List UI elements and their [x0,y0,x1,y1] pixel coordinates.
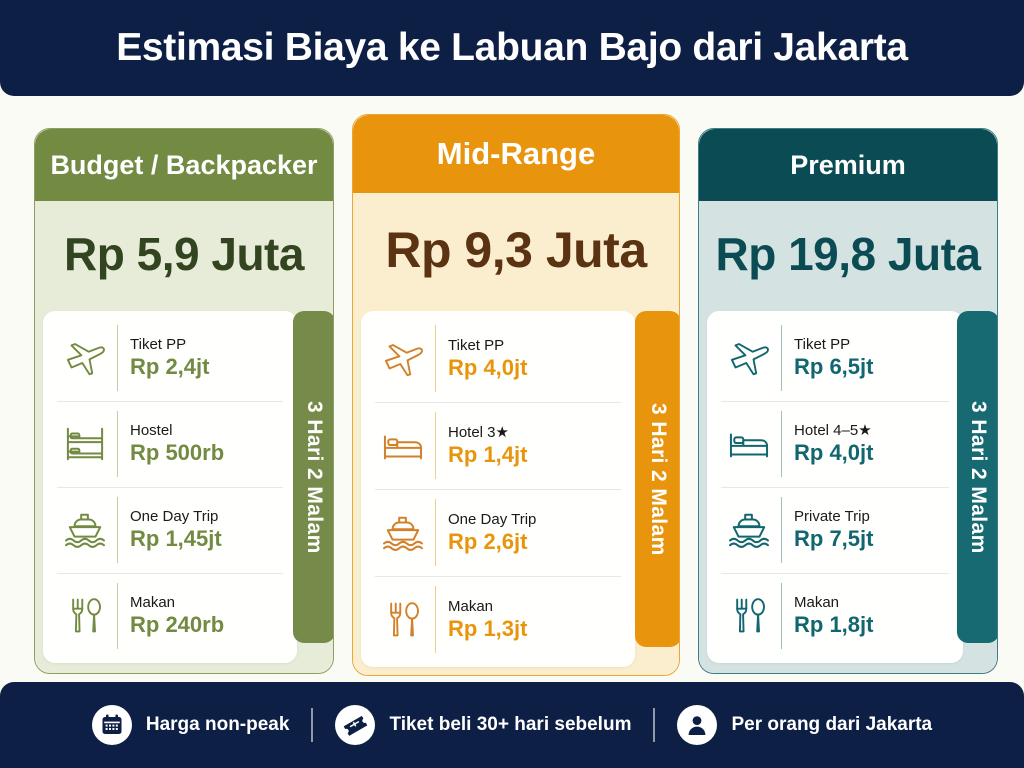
infographic-page: Estimasi Biaya ke Labuan Bajo dari Jakar… [0,0,1024,768]
cost-row[interactable]: Tiket PP Rp 6,5jt [707,315,963,401]
cost-breakdown-panel-premium: Tiket PP Rp 6,5jt [707,311,963,663]
cost-label: Hotel 3★ [448,424,527,441]
cost-breakdown-panel-mid-range: Tiket PP Rp 4,0jt [361,311,635,667]
tier-total-price: Rp 9,3 Juta [385,221,646,279]
footer-note-label: Harga non-peak [146,714,290,736]
row-divider [117,411,118,477]
fork-spoon-icon [375,600,431,640]
footer-note-label: Per orang dari Jakarta [731,714,932,736]
row-divider [435,499,436,566]
cost-label: Hostel [130,422,224,439]
duration-badge-label: 3 Hari 2 Malam [646,403,670,556]
cost-row[interactable]: Private Trip Rp 7,5jt [707,487,963,573]
cost-row[interactable]: One Day Trip Rp 1,45jt [43,487,297,573]
duration-badge-label: 3 Hari 2 Malam [302,401,326,554]
row-divider [435,412,436,479]
footer-bar: Harga non-peak Tiket beli 30+ hari sebel… [0,682,1024,768]
airplane-icon [721,340,777,376]
tier-total-price: Rp 19,8 Juta [716,227,981,281]
row-divider [781,411,782,477]
cost-row[interactable]: Tiket PP Rp 2,4jt [43,315,297,401]
cost-value: Rp 6,5jt [794,354,873,379]
tier-card-header-premium: Premium [699,129,997,201]
tier-price-band-mid-range: Rp 9,3 Juta [353,193,679,307]
tier-card-budget[interactable]: Budget / Backpacker Rp 5,9 Juta [34,128,334,674]
row-divider [117,325,118,391]
cost-value: Rp 500rb [130,440,224,465]
cost-label: Hotel 4–5★ [794,422,873,439]
row-divider [781,497,782,563]
cost-row[interactable]: Hostel Rp 500rb [43,401,297,487]
cost-value: Rp 2,6jt [448,529,536,554]
duration-badge-mid-range: 3 Hari 2 Malam [635,311,679,647]
cost-label: Makan [448,598,527,615]
cost-label: Makan [794,594,873,611]
cost-label: Private Trip [794,508,873,525]
cost-row[interactable]: Makan Rp 1,8jt [707,573,963,659]
cost-value: Rp 1,45jt [130,526,222,551]
cost-value: Rp 240rb [130,612,224,637]
tier-cards-container: Budget / Backpacker Rp 5,9 Juta [0,96,1024,682]
cost-label: Tiket PP [794,336,873,353]
person-icon [677,705,717,745]
row-divider [117,497,118,563]
cost-label: Makan [130,594,224,611]
cost-value: Rp 7,5jt [794,526,873,551]
fork-spoon-icon [57,596,113,636]
row-divider [435,586,436,653]
ticket-icon [335,705,375,745]
boat-icon [721,511,777,549]
cost-label: One Day Trip [448,511,536,528]
tier-card-premium[interactable]: Premium Rp 19,8 Juta Tiket PP [698,128,998,674]
cost-breakdown-panel-budget: Tiket PP Rp 2,4jt [43,311,297,663]
duration-badge-budget: 3 Hari 2 Malam [293,311,333,643]
bunk-bed-icon [57,425,113,463]
cost-row[interactable]: Hotel 4–5★ Rp 4,0jt [707,401,963,487]
footer-note-harga-non-peak: Harga non-peak [70,705,312,745]
cost-row[interactable]: Hotel 3★ Rp 1,4jt [361,402,635,489]
cost-value: Rp 4,0jt [794,440,873,465]
bed-icon [375,427,431,465]
duration-badge-label: 3 Hari 2 Malam [966,401,990,554]
cost-value: Rp 1,4jt [448,442,527,467]
cost-value: Rp 1,3jt [448,616,527,641]
tier-card-mid-range[interactable]: Mid-Range Rp 9,3 Juta Tiket P [352,114,680,676]
cost-label: Tiket PP [130,336,209,353]
fork-spoon-icon [721,596,777,636]
cost-value: Rp 4,0jt [448,355,527,380]
cost-row[interactable]: One Day Trip Rp 2,6jt [361,489,635,576]
row-divider [435,325,436,392]
tier-total-price: Rp 5,9 Juta [64,227,304,281]
airplane-icon [57,340,113,376]
calendar-icon [92,705,132,745]
cost-row[interactable]: Makan Rp 1,3jt [361,576,635,663]
tier-label: Budget / Backpacker [50,150,317,181]
cost-value: Rp 2,4jt [130,354,209,379]
cost-value: Rp 1,8jt [794,612,873,637]
footer-note-label: Tiket beli 30+ hari sebelum [389,714,631,736]
cost-row[interactable]: Makan Rp 240rb [43,573,297,659]
header-bar: Estimasi Biaya ke Labuan Bajo dari Jakar… [0,0,1024,96]
bed-icon [721,425,777,463]
cost-label: Tiket PP [448,337,527,354]
tier-price-band-budget: Rp 5,9 Juta [35,201,333,307]
tier-card-header-budget: Budget / Backpacker [35,129,333,201]
tier-label: Premium [790,150,906,181]
tier-label: Mid-Range [437,136,595,172]
footer-note-tiket-beli: Tiket beli 30+ hari sebelum [313,705,653,745]
tier-card-header-mid-range: Mid-Range [353,115,679,193]
airplane-icon [375,341,431,377]
duration-badge-premium: 3 Hari 2 Malam [957,311,997,643]
cost-row[interactable]: Tiket PP Rp 4,0jt [361,315,635,402]
tier-price-band-premium: Rp 19,8 Juta [699,201,997,307]
boat-icon [375,514,431,552]
cost-label: One Day Trip [130,508,222,525]
row-divider [117,583,118,649]
page-title: Estimasi Biaya ke Labuan Bajo dari Jakar… [116,26,908,70]
row-divider [781,325,782,391]
boat-icon [57,511,113,549]
footer-note-per-orang: Per orang dari Jakarta [655,705,954,745]
row-divider [781,583,782,649]
